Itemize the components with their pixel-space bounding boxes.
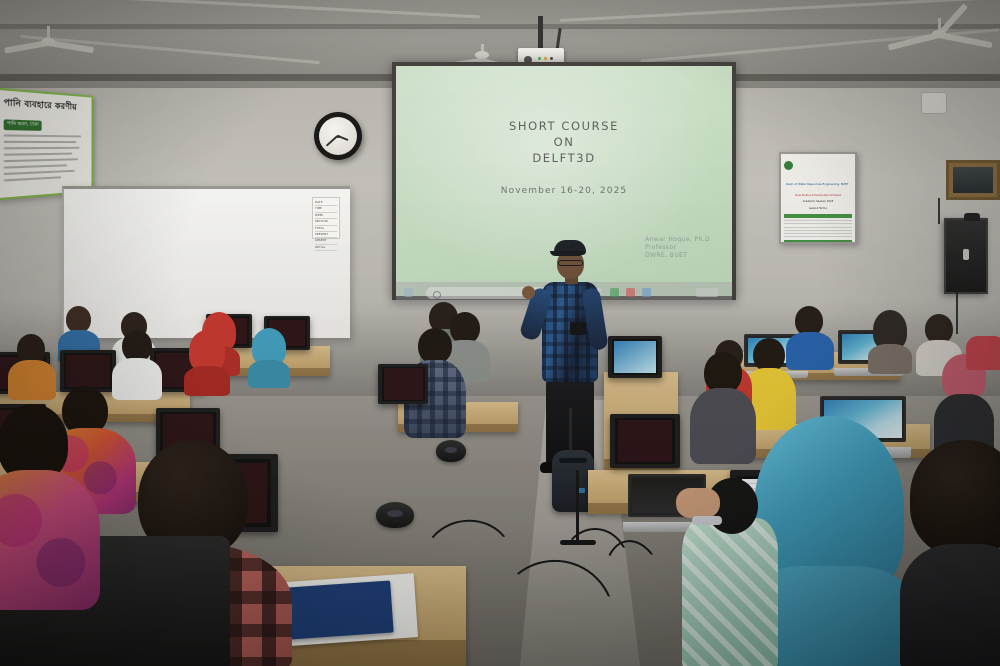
- student: [246, 328, 292, 382]
- projector-power-led-icon: [538, 57, 541, 60]
- lectern-monitor: [608, 336, 662, 378]
- electrical-panel: [944, 218, 988, 294]
- credit-name: Anwar Hoque, Ph.D: [645, 236, 710, 244]
- desk-speaker: [436, 440, 466, 462]
- start-icon[interactable]: [404, 288, 413, 297]
- student: [900, 440, 1000, 666]
- monitor: [610, 414, 680, 468]
- app-icon-red[interactable]: [626, 288, 635, 297]
- panel-switch[interactable]: [963, 249, 969, 260]
- ceiling-beam: [0, 24, 1000, 29]
- student: [8, 334, 56, 394]
- app-icon-lightblue[interactable]: [642, 288, 651, 297]
- wall-ac-unit: [921, 92, 947, 114]
- poster-heading: পানি ব্যবহারে করণীয়: [4, 95, 87, 115]
- notice-caption-primary: Academic Session 2025: [784, 200, 852, 204]
- monitor: [378, 364, 428, 404]
- slide-title: SHORT COURSE ON DELFT3D: [396, 118, 732, 166]
- app-icon-green[interactable]: [610, 288, 619, 297]
- wall-clock: [314, 112, 362, 160]
- clock-face: [319, 117, 357, 155]
- attendance-row: INITIAL: [315, 245, 337, 251]
- slide-credit: Anwar Hoque, Ph.D Professor DWRE, BUET: [645, 236, 710, 260]
- student: [866, 310, 914, 368]
- ceiling-fan: [880, 18, 998, 58]
- hand: [676, 488, 720, 518]
- presenter-hand: [522, 286, 535, 299]
- credit-dept: DWRE, BUET: [645, 252, 710, 260]
- presenter-id-badge: [570, 322, 586, 335]
- presenter: [534, 240, 608, 478]
- backpack-tag-icon: [578, 488, 585, 493]
- classroom-scene: পানি ব্যবহারে করণীয় পানি ভবন, ঢাকা DATE…: [0, 0, 1000, 666]
- poster-badge: পানি ভবন, ঢাকা: [4, 119, 42, 131]
- headwear: [966, 336, 1000, 370]
- slide-date: November 16-20, 2025: [396, 186, 732, 196]
- notice-caption-secondary: Level-4 Term-I: [784, 207, 852, 211]
- projector-lamp-led-icon: [544, 57, 547, 60]
- wristwatch: [692, 516, 722, 525]
- notice-title: Dept. of Water Resources Engineering, BU…: [786, 182, 848, 186]
- poster-water-usage: পানি ব্যবহারে করণীয় পানি ভবন, ঢাকা: [0, 88, 93, 201]
- slide-title-line1: SHORT COURSE: [396, 118, 732, 134]
- projector-temp-led-icon: [550, 57, 553, 60]
- notice-subtitle: Class Routine & Examination Schedule: [784, 194, 852, 197]
- student: [0, 404, 100, 604]
- clock-center-pin: [337, 135, 340, 138]
- student: [112, 330, 162, 392]
- credit-role: Professor: [645, 244, 710, 252]
- projector-mount: [538, 16, 543, 50]
- wall-cabinet: [946, 160, 1000, 200]
- slide-title-line3: DELFT3D: [396, 150, 732, 166]
- notice-section-label: LEVEL-4 TERM-I : THEORY: [784, 225, 817, 228]
- university-logo-icon: [784, 161, 793, 170]
- desk-speaker: [376, 502, 414, 528]
- attendance-sheet: DATE TIME WEEK SECTION TOTAL PRESENT ABS…: [312, 197, 340, 239]
- slide-title-line2: ON: [396, 134, 732, 150]
- ceiling-fan: [0, 26, 96, 60]
- clock-tray-icon[interactable]: [696, 288, 718, 297]
- student: [182, 330, 232, 392]
- blue-notebook: [286, 580, 393, 639]
- notice-board: Dept. of Water Resources Engineering, BU…: [779, 152, 857, 244]
- glasses-icon: [558, 260, 583, 266]
